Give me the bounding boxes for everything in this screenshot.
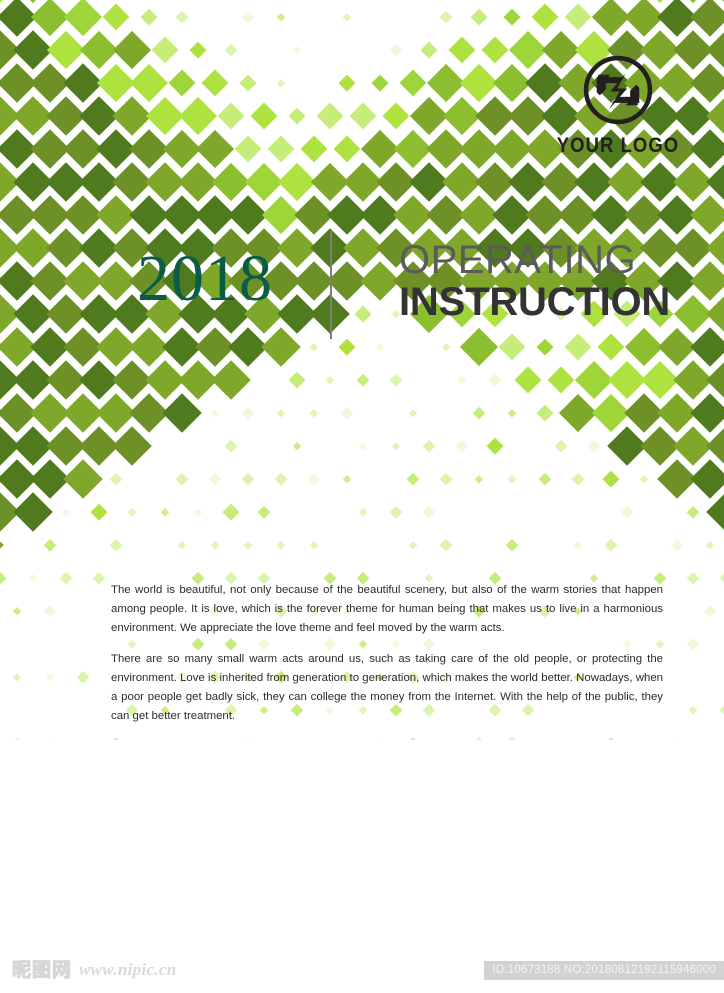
page-title: OPERATING INSTRUCTION xyxy=(399,239,699,323)
mosaic-diamond xyxy=(359,508,367,516)
mosaic-diamond xyxy=(505,538,517,550)
mosaic-diamond xyxy=(0,492,20,532)
mosaic-diamond xyxy=(211,541,219,549)
mosaic-diamond xyxy=(475,475,483,483)
mosaic-diamond xyxy=(564,333,591,360)
mosaic-diamond xyxy=(128,508,136,516)
mosaic-diamond xyxy=(13,607,21,615)
mosaic-diamond xyxy=(195,327,235,367)
mosaic-diamond xyxy=(294,195,334,235)
mosaic-diamond xyxy=(47,30,85,68)
mosaic-diamond xyxy=(571,472,583,484)
mosaic-diamond xyxy=(96,195,136,235)
mosaic-diamond xyxy=(0,96,20,136)
mosaic-diamond xyxy=(30,393,70,433)
mosaic-diamond xyxy=(13,673,21,681)
circle-z-bolt-logo-icon xyxy=(580,52,656,128)
mosaic-diamond xyxy=(640,475,648,483)
mosaic-diamond xyxy=(459,327,497,365)
mosaic-diamond xyxy=(13,492,53,532)
mosaic-diamond xyxy=(79,162,119,202)
mosaic-diamond xyxy=(277,409,285,417)
mosaic-diamond xyxy=(442,343,450,351)
mosaic-diamond xyxy=(376,343,384,351)
mosaic-diamond xyxy=(472,736,484,740)
mosaic-diamond xyxy=(641,0,679,3)
mosaic-diamond xyxy=(326,376,334,384)
mosaic-diamond xyxy=(46,294,86,334)
mosaic-diamond xyxy=(46,360,86,400)
mosaic-diamond xyxy=(338,74,355,91)
mosaic-diamond xyxy=(423,505,435,517)
mosaic-diamond xyxy=(46,162,86,202)
mosaic-diamond xyxy=(46,96,86,136)
mosaic-diamond xyxy=(76,670,88,682)
mosaic-diamond xyxy=(0,129,3,169)
mosaic-diamond xyxy=(489,373,501,385)
mosaic-diamond xyxy=(604,538,616,550)
mosaic-diamond xyxy=(409,162,449,202)
mosaic-diamond xyxy=(327,195,367,235)
mosaic-diamond xyxy=(657,393,697,433)
mosaic-diamond xyxy=(439,538,451,550)
mosaic-diamond xyxy=(79,739,87,740)
mosaic-diamond xyxy=(448,36,475,63)
mosaic-diamond xyxy=(145,360,185,400)
mosaic-diamond xyxy=(508,409,516,417)
mosaic-diamond xyxy=(194,508,202,516)
mosaic-diamond xyxy=(10,736,22,740)
mosaic-diamond xyxy=(212,162,250,200)
mosaic-diamond xyxy=(0,63,36,103)
mosaic-diamond xyxy=(492,63,530,101)
mosaic-diamond xyxy=(113,30,151,68)
mosaic-diamond xyxy=(624,327,662,365)
mosaic-diamond xyxy=(690,327,724,367)
paragraph: There are so many small warm acts around… xyxy=(111,650,663,726)
mosaic-diamond xyxy=(690,195,724,235)
mosaic-diamond xyxy=(13,426,53,466)
mosaic-diamond xyxy=(140,8,157,25)
mosaic-diamond xyxy=(657,195,697,235)
mosaic-diamond xyxy=(459,63,497,101)
mosaic-diamond xyxy=(343,162,383,202)
mosaic-diamond xyxy=(439,472,451,484)
mosaic-diamond xyxy=(129,393,169,433)
mosaic-diamond xyxy=(706,360,724,400)
mosaic-diamond xyxy=(93,571,105,583)
mosaic-diamond xyxy=(289,371,306,388)
mosaic-diamond xyxy=(525,195,565,235)
mosaic-diamond xyxy=(673,739,681,740)
mosaic-diamond xyxy=(175,10,187,22)
mosaic-diamond xyxy=(190,41,207,58)
mosaic-diamond xyxy=(0,228,20,268)
mosaic-diamond xyxy=(63,261,103,301)
mosaic-diamond xyxy=(258,505,270,517)
mosaic-diamond xyxy=(536,338,553,355)
mosaic-diamond xyxy=(575,360,613,398)
mosaic-diamond xyxy=(43,538,55,550)
mosaic-diamond xyxy=(607,426,647,466)
mosaic-diamond xyxy=(439,10,451,22)
mosaic-diamond xyxy=(492,129,532,169)
mosaic-diamond xyxy=(602,470,619,487)
mosaic-diamond xyxy=(359,442,367,450)
mosaic-diamond xyxy=(13,360,53,400)
mosaic-diamond xyxy=(393,195,433,235)
mosaic-diamond xyxy=(703,604,715,616)
mosaic-diamond xyxy=(382,102,409,129)
mosaic-diamond xyxy=(706,30,724,70)
mosaic-diamond xyxy=(30,327,70,367)
mosaic-diamond xyxy=(390,505,402,517)
mosaic-diamond xyxy=(487,437,504,454)
mosaic-diamond xyxy=(674,0,712,3)
mosaic-diamond xyxy=(112,96,152,136)
mosaic-diamond xyxy=(472,406,484,418)
mosaic-diamond xyxy=(129,327,169,367)
mosaic-diamond xyxy=(46,426,86,466)
mosaic-diamond xyxy=(79,426,119,466)
mosaic-diamond xyxy=(129,195,169,235)
mosaic-diamond xyxy=(30,195,70,235)
mosaic-diamond xyxy=(470,8,487,25)
mosaic-diamond xyxy=(690,0,724,36)
watermark-cjk-text: 昵图网 xyxy=(12,959,72,981)
mosaic-diamond xyxy=(371,74,388,91)
title-line-1: OPERATING xyxy=(399,239,699,281)
mosaic-diamond xyxy=(393,129,431,167)
mosaic-diamond xyxy=(0,162,20,202)
mosaic-diamond xyxy=(588,439,600,451)
mosaic-diamond xyxy=(426,63,464,101)
mosaic-diamond xyxy=(151,36,178,63)
mosaic-diamond xyxy=(178,541,186,549)
mosaic-diamond xyxy=(13,162,53,202)
mosaic-diamond xyxy=(195,129,233,167)
mosaic-diamond xyxy=(79,228,119,268)
mosaic-diamond xyxy=(211,409,219,417)
mosaic-diamond xyxy=(109,472,121,484)
mosaic-diamond xyxy=(687,637,699,649)
mosaic-diamond xyxy=(310,541,318,549)
cover-page: YOUR LOGO 2018 OPERATING INSTRUCTION The… xyxy=(0,0,724,993)
mosaic-diamond xyxy=(277,228,317,268)
mosaic-diamond xyxy=(657,327,695,365)
mosaic-diamond xyxy=(410,96,448,134)
mosaic-diamond xyxy=(591,0,629,36)
mosaic-diamond xyxy=(43,604,55,616)
mosaic-diamond xyxy=(376,162,416,202)
mosaic-diamond xyxy=(112,426,152,466)
mosaic-diamond xyxy=(168,69,195,96)
mosaic-diamond xyxy=(277,541,285,549)
mosaic-diamond xyxy=(129,129,169,169)
mosaic-diamond xyxy=(481,36,508,63)
mosaic-diamond xyxy=(340,406,352,418)
mosaic-diamond xyxy=(558,195,598,235)
mosaic-diamond xyxy=(706,0,724,3)
mosaic-diamond xyxy=(338,338,355,355)
mosaic-diamond xyxy=(706,162,724,202)
mosaic-diamond xyxy=(245,162,283,200)
mosaic-diamond xyxy=(46,739,54,740)
mosaic-diamond xyxy=(109,538,121,550)
mosaic-diamond xyxy=(129,63,167,101)
mosaic-diamond xyxy=(343,13,351,21)
mosaic-diamond xyxy=(79,294,119,334)
mosaic-diamond xyxy=(63,129,103,169)
mosaic-diamond xyxy=(558,393,596,431)
mosaic-diamond xyxy=(63,63,103,103)
mosaic-diamond xyxy=(228,327,268,367)
mosaic-diamond xyxy=(0,393,36,433)
mosaic-diamond xyxy=(0,360,20,400)
mosaic-diamond xyxy=(234,135,261,162)
year-label: 2018 xyxy=(137,246,273,312)
mosaic-diamond xyxy=(442,162,482,202)
mosaic-diamond xyxy=(687,571,699,583)
mosaic-diamond xyxy=(145,162,185,202)
mosaic-diamond xyxy=(0,459,3,499)
mosaic-diamond xyxy=(505,736,517,740)
mosaic-diamond xyxy=(208,472,220,484)
mosaic-diamond xyxy=(63,0,101,36)
mosaic-diamond xyxy=(0,0,36,36)
mosaic-diamond xyxy=(146,96,184,134)
mosaic-diamond xyxy=(241,10,253,22)
watermark-logo: 昵图网 www.nipic.cn xyxy=(12,959,176,981)
mosaic-diamond xyxy=(162,327,202,367)
mosaic-diamond xyxy=(690,393,724,433)
mosaic-diamond xyxy=(0,0,3,36)
mosaic-diamond xyxy=(343,228,383,268)
mosaic-diamond xyxy=(706,492,724,532)
mosaic-diamond xyxy=(294,261,334,301)
mosaic-diamond xyxy=(241,406,253,418)
mosaic-diamond xyxy=(179,96,217,134)
mosaic-diamond xyxy=(673,360,713,400)
mosaic-diamond xyxy=(310,409,318,417)
mosaic-diamond xyxy=(706,228,724,268)
mosaic-diamond xyxy=(706,294,724,334)
mosaic-diamond xyxy=(406,736,418,740)
mosaic-diamond xyxy=(564,3,591,30)
mosaic-diamond xyxy=(390,373,402,385)
mosaic-diamond xyxy=(459,129,499,169)
mosaic-diamond xyxy=(79,96,119,136)
mosaic-diamond xyxy=(508,475,516,483)
mosaic-diamond xyxy=(492,195,532,235)
mosaic-diamond xyxy=(392,442,400,450)
mosaic-diamond xyxy=(459,195,499,235)
mosaic-diamond xyxy=(46,228,86,268)
mosaic-diamond xyxy=(161,508,169,516)
mosaic-diamond xyxy=(96,261,136,301)
mosaic-diamond xyxy=(475,96,515,136)
mosaic-diamond xyxy=(0,195,3,235)
mosaic-diamond xyxy=(13,96,53,136)
mosaic-diamond xyxy=(30,129,70,169)
logo-text: YOUR LOGO xyxy=(548,134,689,158)
mosaic-diamond xyxy=(60,571,72,583)
mosaic-diamond xyxy=(0,0,19,3)
mosaic-diamond xyxy=(316,102,343,129)
mosaic-diamond xyxy=(0,459,36,499)
mosaic-diamond xyxy=(0,327,3,367)
mosaic-diamond xyxy=(456,439,468,451)
mosaic-diamond xyxy=(0,195,36,235)
mosaic-diamond xyxy=(555,439,567,451)
mosaic-diamond xyxy=(293,442,301,450)
mosaic-diamond xyxy=(13,228,53,268)
mosaic-diamond xyxy=(409,541,417,549)
mosaic-diamond xyxy=(349,102,376,129)
mosaic-diamond xyxy=(690,459,724,499)
mosaic-diamond xyxy=(79,360,119,400)
mosaic-diamond xyxy=(421,41,438,58)
mosaic-diamond xyxy=(657,0,697,36)
mosaic-diamond xyxy=(30,261,70,301)
masthead-divider xyxy=(330,231,332,339)
mosaic-diamond xyxy=(0,571,6,583)
mosaic-diamond xyxy=(310,343,318,351)
mosaic-diamond xyxy=(0,327,36,367)
mosaic-diamond xyxy=(706,96,724,136)
mosaic-diamond xyxy=(96,327,136,367)
mosaic-diamond xyxy=(225,43,237,55)
mosaic-diamond xyxy=(223,503,240,520)
footer-watermark-bar: 昵图网 www.nipic.cn ID:10673188 NO:20180812… xyxy=(0,953,724,993)
mosaic-diamond xyxy=(458,376,466,384)
mosaic-diamond xyxy=(624,195,664,235)
mosaic-diamond xyxy=(355,305,372,322)
mosaic-diamond xyxy=(360,129,398,167)
body-copy: The world is beautiful, not only because… xyxy=(111,581,663,726)
mosaic-diamond xyxy=(641,360,679,398)
image-id-badge: ID:10673188 NO:20180812192115946000 xyxy=(484,961,724,980)
mosaic-diamond xyxy=(0,525,3,565)
mosaic-diamond xyxy=(63,393,103,433)
mosaic-diamond xyxy=(278,162,316,200)
mosaic-diamond xyxy=(406,472,418,484)
mosaic-diamond xyxy=(277,13,285,21)
mosaic-diamond xyxy=(178,162,218,202)
mosaic-diamond xyxy=(538,472,550,484)
mosaic-diamond xyxy=(443,96,481,134)
mosaic-diamond xyxy=(333,135,360,162)
mosaic-diamond xyxy=(112,360,152,400)
mosaic-diamond xyxy=(30,63,70,103)
mosaic-diamond xyxy=(300,135,327,162)
mosaic-diamond xyxy=(376,739,384,740)
mosaic-diamond xyxy=(102,3,129,30)
watermark-url-text: www.nipic.cn xyxy=(79,960,176,980)
mosaic-diamond xyxy=(267,135,294,162)
paragraph: The world is beautiful, not only because… xyxy=(111,581,663,638)
mosaic-diamond xyxy=(0,63,3,103)
mosaic-diamond xyxy=(175,472,187,484)
mosaic-diamond xyxy=(360,261,400,301)
mosaic-diamond xyxy=(63,459,103,499)
mosaic-diamond xyxy=(670,538,682,550)
mosaic-diamond xyxy=(608,360,646,398)
mosaic-diamond xyxy=(225,439,237,451)
mosaic-diamond xyxy=(96,63,134,101)
mosaic-diamond xyxy=(277,79,285,87)
mosaic-diamond xyxy=(0,261,3,301)
mosaic-diamond xyxy=(244,541,252,549)
mosaic-diamond xyxy=(63,195,103,235)
mosaic-diamond xyxy=(399,69,426,96)
mosaic-diamond xyxy=(311,162,349,200)
mosaic-diamond xyxy=(426,129,466,169)
mosaic-diamond xyxy=(689,706,697,714)
mosaic-diamond xyxy=(360,195,400,235)
mosaic-diamond xyxy=(293,46,301,54)
mosaic-diamond xyxy=(29,574,37,582)
mosaic-diamond xyxy=(228,195,268,235)
mosaic-diamond xyxy=(178,360,218,400)
mosaic-diamond xyxy=(706,541,714,549)
mosaic-diamond xyxy=(289,107,306,124)
mosaic-diamond xyxy=(96,393,136,433)
mosaic-diamond xyxy=(357,373,369,385)
mosaic-diamond xyxy=(498,333,525,360)
mosaic-diamond xyxy=(0,129,36,169)
mosaic-diamond xyxy=(14,0,52,3)
mosaic-diamond xyxy=(162,393,202,433)
mosaic-diamond xyxy=(657,459,697,499)
mosaic-diamond xyxy=(390,43,402,55)
mosaic-diamond xyxy=(30,459,70,499)
mosaic-diamond xyxy=(426,195,466,235)
mosaic-diamond xyxy=(536,404,553,421)
mosaic-diamond xyxy=(503,8,520,25)
mosaic-diamond xyxy=(0,294,20,334)
mosaic-diamond xyxy=(0,393,3,433)
mosaic-diamond xyxy=(96,129,136,169)
mosaic-diamond xyxy=(241,472,253,484)
mosaic-diamond xyxy=(673,426,713,466)
mosaic-diamond xyxy=(195,195,235,235)
mosaic-diamond xyxy=(307,472,319,484)
mosaic-diamond xyxy=(162,195,202,235)
mosaic-diamond xyxy=(624,0,664,36)
mosaic-diamond xyxy=(62,508,70,516)
mosaic-diamond xyxy=(591,195,631,235)
mosaic-diamond xyxy=(217,102,244,129)
mosaic-diamond xyxy=(162,129,200,167)
mosaic-diamond xyxy=(640,426,680,466)
mosaic-diamond xyxy=(624,393,664,433)
mosaic-diamond xyxy=(343,475,351,483)
mosaic-diamond xyxy=(574,541,582,549)
mosaic-diamond xyxy=(547,366,574,393)
logo-block: YOUR LOGO xyxy=(538,52,698,174)
mosaic-diamond xyxy=(604,736,616,740)
mosaic-diamond xyxy=(687,505,699,517)
mosaic-diamond xyxy=(211,360,251,400)
mosaic-diamond xyxy=(0,426,20,466)
mosaic-diamond xyxy=(244,739,252,740)
mosaic-diamond xyxy=(46,673,54,681)
mosaic-diamond xyxy=(63,327,103,367)
mosaic-diamond xyxy=(423,439,435,451)
mosaic-diamond xyxy=(261,195,299,233)
mosaic-diamond xyxy=(706,426,724,466)
